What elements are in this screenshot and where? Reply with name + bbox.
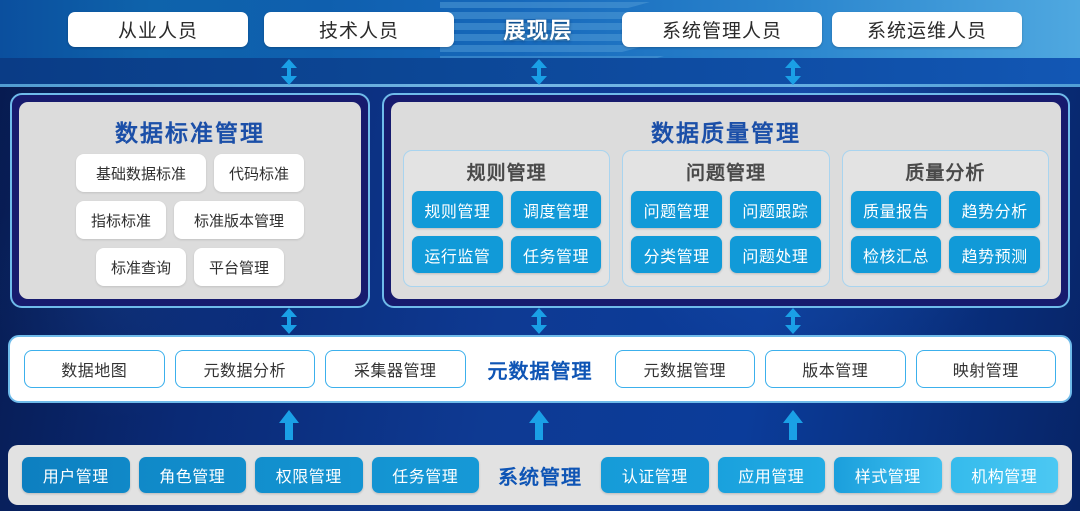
btn-classification-management[interactable]: 分类管理: [631, 236, 722, 273]
connector-arrow-bottom-left: [278, 410, 300, 440]
btn-audit-summary[interactable]: 检核汇总: [851, 236, 942, 273]
connector-arrow-top-center: [528, 59, 550, 85]
chip-standard-version-management[interactable]: 标准版本管理: [174, 201, 304, 239]
btn-label: 任务管理: [392, 463, 458, 487]
btn-application-management[interactable]: 应用管理: [718, 457, 826, 493]
subpanel-title: 问题管理: [686, 158, 766, 185]
chip-label: 指标标准: [91, 210, 151, 231]
chip-basic-data-standard[interactable]: 基础数据标准: [76, 154, 206, 192]
quality-subpanel-container: 规则管理 规则管理 调度管理 运行监管 任务管理 问题管理 问题管理 问题跟踪: [403, 150, 1049, 287]
btn-user-management[interactable]: 用户管理: [22, 457, 130, 493]
btn-label: 映射管理: [953, 357, 1019, 381]
layer-title-system: 系统管理: [488, 461, 592, 490]
connector-arrow-mid-left: [278, 308, 300, 334]
management-layer-row: 数据标准管理 基础数据标准 代码标准 指标标准 标准版本管理 标: [0, 93, 1080, 308]
header-pill-label: 从业人员: [118, 16, 198, 43]
panel-title-data-standard: 数据标准管理: [19, 114, 361, 148]
chip-code-standard[interactable]: 代码标准: [214, 154, 304, 192]
connector-arrow-bottom-right: [782, 410, 804, 440]
btn-label: 规则管理: [424, 198, 490, 222]
chip-standard-query[interactable]: 标准查询: [96, 248, 186, 286]
btn-label: 趋势预测: [962, 243, 1028, 267]
btn-label: 采集器管理: [354, 357, 437, 381]
layer-title-presentation: 展现层: [478, 14, 598, 44]
btn-mapping-management[interactable]: 映射管理: [916, 350, 1057, 388]
panel-data-quality-management: 数据质量管理 规则管理 规则管理 调度管理 运行监管 任务管理 问题管理: [382, 93, 1070, 308]
btn-data-map[interactable]: 数据地图: [24, 350, 165, 388]
chip-label: 标准版本管理: [194, 210, 284, 231]
btn-style-management[interactable]: 样式管理: [834, 457, 942, 493]
btn-label: 版本管理: [802, 357, 868, 381]
btn-label: 元数据分析: [203, 357, 286, 381]
metadata-layer-row: 数据地图 元数据分析 采集器管理 元数据管理 元数据管理 版本管理 映射管理: [8, 335, 1072, 403]
subpanel-rule-management: 规则管理 规则管理 调度管理 运行监管 任务管理: [403, 150, 610, 287]
header-pill-technical-staff[interactable]: 技术人员: [264, 12, 454, 47]
panel-data-quality-inner: 数据质量管理 规则管理 规则管理 调度管理 运行监管 任务管理 问题管理: [391, 102, 1061, 299]
chip-label: 平台管理: [209, 257, 269, 278]
btn-organization-management[interactable]: 机构管理: [951, 457, 1059, 493]
header-pill-label: 技术人员: [319, 16, 399, 43]
btn-label: 数据地图: [61, 357, 127, 381]
btn-label: 机构管理: [971, 463, 1037, 487]
subpanel-button-grid: 质量报告 趋势分析 检核汇总 趋势预测: [851, 191, 1040, 273]
btn-label: 权限管理: [276, 463, 342, 487]
panel-title-data-quality: 数据质量管理: [391, 114, 1061, 148]
connector-arrow-top-left: [278, 59, 300, 85]
btn-label: 认证管理: [622, 463, 688, 487]
layer-title-metadata: 元数据管理: [476, 355, 605, 384]
connector-arrow-top-right: [782, 59, 804, 85]
subpanel-quality-analysis: 质量分析 质量报告 趋势分析 检核汇总 趋势预测: [842, 150, 1049, 287]
chip-index-standard[interactable]: 指标标准: [76, 201, 166, 239]
header-pill-system-admin[interactable]: 系统管理人员: [622, 12, 822, 47]
btn-version-management[interactable]: 版本管理: [765, 350, 906, 388]
btn-quality-report[interactable]: 质量报告: [851, 191, 942, 228]
panel-data-standard-management: 数据标准管理 基础数据标准 代码标准 指标标准 标准版本管理 标: [10, 93, 370, 308]
btn-task-management-sys[interactable]: 任务管理: [372, 457, 480, 493]
btn-label: 任务管理: [523, 243, 589, 267]
btn-schedule-management[interactable]: 调度管理: [511, 191, 602, 228]
btn-permission-management[interactable]: 权限管理: [255, 457, 363, 493]
subpanel-title: 质量分析: [905, 158, 985, 185]
btn-label: 问题处理: [742, 243, 808, 267]
header-pill-label: 系统管理人员: [662, 16, 782, 43]
btn-label: 应用管理: [738, 463, 804, 487]
data-standard-chip-grid: 基础数据标准 代码标准 指标标准 标准版本管理 标准查询 平: [33, 154, 347, 286]
btn-rule-management[interactable]: 规则管理: [412, 191, 503, 228]
btn-auth-management[interactable]: 认证管理: [601, 457, 709, 493]
connector-arrow-bottom-center: [528, 410, 550, 440]
btn-label: 样式管理: [855, 463, 921, 487]
connector-arrow-mid-right: [782, 308, 804, 334]
btn-label: 分类管理: [644, 243, 710, 267]
btn-metadata-management[interactable]: 元数据管理: [615, 350, 756, 388]
chip-label: 基础数据标准: [96, 163, 186, 184]
btn-label: 趋势分析: [962, 198, 1028, 222]
subpanel-button-grid: 规则管理 调度管理 运行监管 任务管理: [412, 191, 601, 273]
subpanel-button-grid: 问题管理 问题跟踪 分类管理 问题处理: [631, 191, 820, 273]
btn-label: 问题管理: [644, 198, 710, 222]
header-pill-label: 系统运维人员: [867, 16, 987, 43]
chip-label: 代码标准: [229, 163, 289, 184]
btn-runtime-supervision[interactable]: 运行监管: [412, 236, 503, 273]
btn-label: 用户管理: [43, 463, 109, 487]
btn-issue-tracking[interactable]: 问题跟踪: [730, 191, 821, 228]
btn-issue-management[interactable]: 问题管理: [631, 191, 722, 228]
btn-label: 运行监管: [424, 243, 490, 267]
btn-label: 问题跟踪: [742, 198, 808, 222]
btn-metadata-analysis[interactable]: 元数据分析: [175, 350, 316, 388]
btn-issue-processing[interactable]: 问题处理: [730, 236, 821, 273]
btn-label: 检核汇总: [863, 243, 929, 267]
btn-trend-forecast[interactable]: 趋势预测: [949, 236, 1040, 273]
header-pill-practitioner[interactable]: 从业人员: [68, 12, 248, 47]
header-pill-system-ops[interactable]: 系统运维人员: [832, 12, 1022, 47]
btn-label: 质量报告: [863, 198, 929, 222]
connector-arrow-mid-center: [528, 308, 550, 334]
btn-task-management[interactable]: 任务管理: [511, 236, 602, 273]
system-layer-row: 用户管理 角色管理 权限管理 任务管理 系统管理 认证管理 应用管理 样式管理 …: [8, 445, 1072, 505]
panel-data-standard-inner: 数据标准管理 基础数据标准 代码标准 指标标准 标准版本管理 标: [19, 102, 361, 299]
subpanel-issue-management: 问题管理 问题管理 问题跟踪 分类管理 问题处理: [622, 150, 829, 287]
subpanel-title: 规则管理: [467, 158, 547, 185]
btn-collector-management[interactable]: 采集器管理: [325, 350, 466, 388]
btn-label: 元数据管理: [643, 357, 726, 381]
btn-label: 调度管理: [523, 198, 589, 222]
btn-role-management[interactable]: 角色管理: [139, 457, 247, 493]
architecture-diagram: 从业人员 技术人员 系统管理人员 系统运维人员 展现层 数据: [0, 0, 1080, 511]
btn-label: 角色管理: [159, 463, 225, 487]
chip-label: 标准查询: [111, 257, 171, 278]
btn-trend-analysis[interactable]: 趋势分析: [949, 191, 1040, 228]
chip-platform-management[interactable]: 平台管理: [194, 248, 284, 286]
